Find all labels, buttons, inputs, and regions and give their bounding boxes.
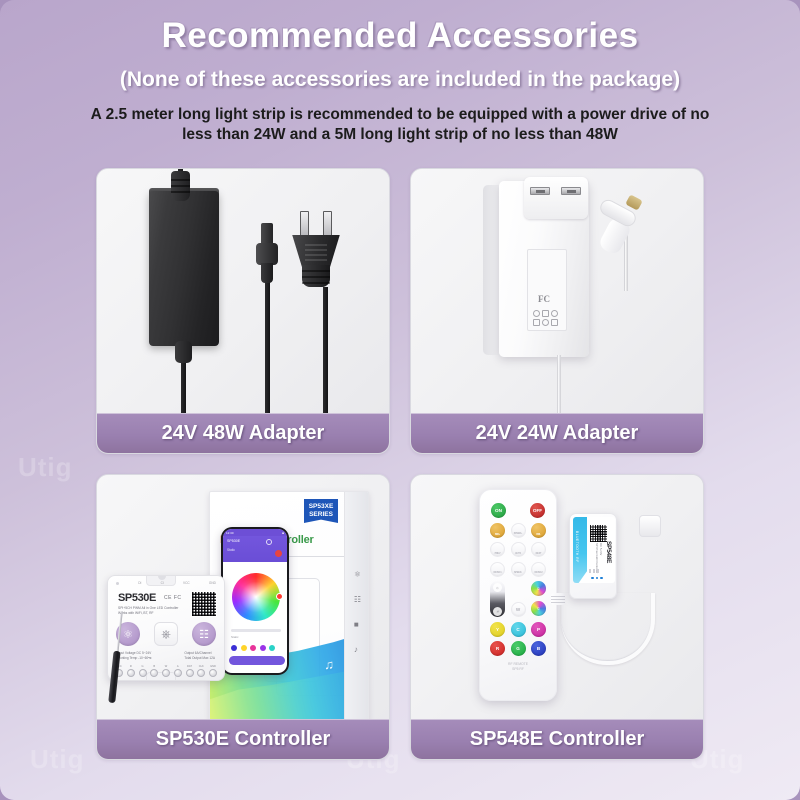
app-menu-icon xyxy=(266,539,272,545)
slider-bottom-icon: ☀ xyxy=(493,607,502,616)
usb-connector xyxy=(639,515,661,537)
sp530e-image: ♫ ⚛ ☷ ■ ♪ SP53XE SERIES IoT LED xyxy=(97,475,389,719)
device-model-name: SP530E xyxy=(118,592,156,604)
series-badge-line2: SERIES xyxy=(309,511,333,519)
sp548e-image: ON OFF BRI+ SPEED+ BRI- PREV AUTO NEXT xyxy=(411,475,703,719)
terminal: DAT xyxy=(186,665,194,677)
remote-rainbow-column: ☺ ☺ xyxy=(531,581,546,616)
device-specs-right: Output 6A/Channel Total Output Max 12A xyxy=(184,651,215,662)
remote-rgb-mode1-button[interactable]: ☺ xyxy=(531,581,546,596)
phone-mockup: 12:30 ■ SP530E Static Static xyxy=(221,527,289,675)
remote-row-dimmer: ☼ ☀ W ☺ ☺ xyxy=(490,581,546,617)
page-note: A 2.5 meter long light strip is recommen… xyxy=(0,105,800,146)
adapter-spec-text: AC/DC ADAPTER MODEL: SW-2402000 INPUT: 1… xyxy=(529,249,555,260)
spec-total-output: Total Output Max 12A xyxy=(184,656,215,661)
app-action-button xyxy=(229,656,285,665)
series-badge: SP53XE SERIES xyxy=(304,499,338,523)
remote-color-yellow-button[interactable]: Y xyxy=(490,622,505,637)
button-label: BRI+ xyxy=(495,534,500,536)
remote-brand-line2: SP5 RF xyxy=(490,667,546,672)
usb-cable xyxy=(561,593,655,665)
adapter-48w-image xyxy=(97,169,389,413)
remote-row-music: MUSIC1 SPEED- MUSIC2 xyxy=(490,562,546,577)
remote-brightness-up-button[interactable]: BRI+ xyxy=(490,523,505,538)
terminal: A xyxy=(174,665,182,677)
page-subtitle: (None of these accessories are included … xyxy=(0,68,800,92)
remote-on-button[interactable]: ON xyxy=(491,503,506,518)
device-specs-left: Input Voltage DC 5~24V Working Temp -10~… xyxy=(117,651,152,662)
remote-brightness-down-button[interactable]: BRI- xyxy=(531,523,546,538)
battery-icon: ■ xyxy=(282,531,284,535)
remote-color-green-button[interactable]: G xyxy=(511,641,526,656)
card-label-sp548e: SP548E Controller xyxy=(411,719,703,759)
adapter-output-cord xyxy=(557,355,561,413)
ac-prong-left xyxy=(530,187,550,195)
ac-plug-ribs xyxy=(289,235,343,267)
pin-label-di: DI xyxy=(138,581,141,585)
box-spine-icons: ⚛ ☷ ■ ♪ xyxy=(354,570,361,654)
remote-off-button[interactable]: OFF xyxy=(530,503,545,518)
terminal: W xyxy=(162,665,170,677)
app-header: SP530E Static xyxy=(223,536,287,562)
device-indicator-dots xyxy=(591,577,603,580)
ac-prong-left xyxy=(300,211,309,237)
ac-prong-right xyxy=(323,211,332,237)
band-text: BLUETOOTH RF xyxy=(575,531,579,563)
wifi-icon: ☷ xyxy=(192,622,216,646)
status-time: 12:30 xyxy=(226,531,234,535)
remote-row-colors-2: R G B xyxy=(490,641,546,656)
slider-top-icon: ☼ xyxy=(493,583,502,592)
remote-speed-up-button[interactable]: SPEED+ xyxy=(511,523,526,538)
power-icon: ⎈ xyxy=(154,622,178,646)
app-sub-label: Static xyxy=(227,548,235,552)
button-label: BRI- xyxy=(536,534,540,536)
device-pins xyxy=(589,569,599,573)
button-label: AUTO xyxy=(515,553,521,555)
app-device-name: SP530E xyxy=(227,539,240,543)
remote-music1-button[interactable]: MUSIC1 xyxy=(490,562,505,577)
device-desc-line2: Works with WiFi, BT, RF xyxy=(118,611,178,616)
remote-color-purple-button[interactable]: P xyxy=(531,622,546,637)
device-model-name: SP548E xyxy=(605,541,612,563)
card-label-adapter-48w: 24V 48W Adapter xyxy=(97,413,389,453)
pin-label-vcc: VCC xyxy=(183,581,190,585)
card-label-sp530e: SP530E Controller xyxy=(97,719,389,759)
button-label: MUSIC2 xyxy=(534,572,542,574)
terminal-label: B xyxy=(153,665,155,668)
dc-tail xyxy=(261,263,273,283)
bluetooth-icon: ⚛ xyxy=(354,570,361,579)
remote-prev-button[interactable]: PREV xyxy=(490,542,505,557)
qr-code-icon xyxy=(191,591,217,617)
app-power-button xyxy=(275,550,282,557)
accessory-card-adapter-48w[interactable]: 24V 48W Adapter xyxy=(96,168,390,454)
ac-neck-rings xyxy=(302,265,330,287)
music-note-icon: ♫ xyxy=(324,657,334,672)
button-label: SPEED+ xyxy=(514,533,523,535)
series-badge-line1: SP53XE xyxy=(309,503,334,511)
spec-working-temp: Working Temp -10~60℃ xyxy=(117,656,152,661)
color-wheel xyxy=(232,573,280,621)
dc-barrel-plug xyxy=(252,223,282,283)
dc-barrel-tip xyxy=(261,223,273,245)
remote-next-button[interactable]: NEXT xyxy=(531,542,546,557)
power-brick-body xyxy=(149,191,219,346)
dc-cord xyxy=(265,281,270,413)
spec-voltage: DC 5-24V xyxy=(599,543,603,573)
button-label: PREV xyxy=(495,553,501,555)
terminal: G xyxy=(139,665,147,677)
device-specs: Input Voltage DC 5~24V Working Temp -10~… xyxy=(117,651,215,662)
phone-status-bar: 12:30 ■ xyxy=(223,529,287,536)
brightness-slider[interactable]: ☼ ☀ xyxy=(490,581,505,617)
terminal: B xyxy=(150,665,158,677)
led-indicator xyxy=(116,582,119,585)
wheel-caption: Static xyxy=(231,635,239,639)
ac-wall-plug xyxy=(287,211,345,291)
pin-label-gnd: GND xyxy=(209,581,216,585)
accessories-page: Utig Utig Utig Utig Utig Utig Recommende… xyxy=(0,0,800,800)
rf-remote: ON OFF BRI+ SPEED+ BRI- PREV AUTO NEXT xyxy=(479,489,557,701)
terminal-label: W xyxy=(165,665,167,668)
watermark: Utig xyxy=(18,452,73,483)
device-top-pins: DI CI VCC GND xyxy=(116,581,216,585)
remote-auto-button[interactable]: AUTO xyxy=(511,542,526,557)
qr-code-icon xyxy=(590,525,607,542)
terminal-label: A xyxy=(177,665,179,668)
device-description: SPI+5CH PWM All in One LED Controller Wo… xyxy=(118,606,178,616)
remote-row-navigation: PREV AUTO NEXT xyxy=(490,542,546,557)
terminal: GND xyxy=(209,665,217,677)
ac-cord xyxy=(323,287,328,413)
card-label-adapter-24w: 24V 24W Adapter xyxy=(411,413,703,453)
sp548e-device: BLUETOOTH RF SP548E DC 5-24V SPI Pixel L… xyxy=(569,513,617,599)
dc-collar xyxy=(256,243,278,265)
remote-row-brightness: BRI+ SPEED+ BRI- xyxy=(490,523,546,538)
output-strain-relief xyxy=(175,341,192,363)
ac-prong-plate xyxy=(524,177,588,219)
remote-row-colors-1: Y C P xyxy=(490,622,546,637)
terminal-label: R xyxy=(130,665,132,668)
device-label: BLUETOOTH RF SP548E DC 5-24V SPI Pixel L… xyxy=(573,517,615,583)
brightness-slider xyxy=(231,629,281,632)
accessory-card-sp530e[interactable]: ♫ ⚛ ☷ ■ ♪ SP53XE SERIES IoT LED xyxy=(96,474,390,760)
watermark: Utig xyxy=(30,744,85,775)
sp530e-device: DI CI VCC GND SP530E CE FC SPI+5CH PWM A… xyxy=(107,575,225,681)
button-label: NEXT xyxy=(536,553,542,555)
remote-music2-button[interactable]: MUSIC2 xyxy=(531,562,546,577)
pin-label-ci: CI xyxy=(161,581,164,585)
strain-relief-rings xyxy=(171,171,190,201)
certification-marks xyxy=(533,310,565,326)
screw-terminal-block: VCC R G B W A DAT CLK GND xyxy=(115,665,217,677)
button-label: SPEED- xyxy=(514,572,522,574)
page-header: Recommended Accessories (None of these a… xyxy=(0,0,800,146)
remote-icon: ■ xyxy=(354,620,361,629)
remote-color-blue-button[interactable]: B xyxy=(531,641,546,656)
controller-output-connector xyxy=(551,593,565,605)
remote-color-cyan-button[interactable]: C xyxy=(511,622,526,637)
accessory-grid: 24V 48W Adapter AC/DC ADAPTER MODEL: SW-… xyxy=(96,168,704,760)
adapter-24w-image: AC/DC ADAPTER MODEL: SW-2402000 INPUT: 1… xyxy=(411,169,703,413)
terminal: R xyxy=(127,665,135,677)
button-label: MUSIC1 xyxy=(493,572,501,574)
fcc-mark-icon: FC xyxy=(538,294,550,304)
terminal: CLK xyxy=(197,665,205,677)
remote-speed-down-button[interactable]: SPEED- xyxy=(511,562,526,577)
remote-row-power: ON OFF xyxy=(490,503,546,518)
music-icon: ♪ xyxy=(354,645,361,654)
accessory-card-sp548e[interactable]: ON OFF BRI+ SPEED+ BRI- PREV AUTO NEXT xyxy=(410,474,704,760)
device-buttons: ⚛ ⎈ ☷ xyxy=(116,622,216,646)
page-title: Recommended Accessories xyxy=(0,16,800,56)
wifi-icon: ☷ xyxy=(354,595,361,604)
terminal-label: GND xyxy=(210,665,216,668)
terminal-label: DAT xyxy=(187,665,192,668)
remote-branding: RF REMOTE SP5 RF xyxy=(490,662,546,672)
color-swatches xyxy=(231,645,275,651)
terminal-label: G xyxy=(141,665,143,668)
device-certs: CE FC xyxy=(164,595,182,601)
color-wheel-handle xyxy=(276,593,283,600)
label-color-band: BLUETOOTH RF xyxy=(573,517,587,583)
accessory-card-adapter-24w[interactable]: AC/DC ADAPTER MODEL: SW-2402000 INPUT: 1… xyxy=(410,168,704,454)
adapter-spec-label: AC/DC ADAPTER MODEL: SW-2402000 INPUT: 1… xyxy=(527,249,567,331)
remote-color-red-button[interactable]: R xyxy=(490,641,505,656)
phone-screen: 12:30 ■ SP530E Static Static xyxy=(223,529,287,673)
remote-white-button[interactable]: W xyxy=(511,602,526,617)
ac-prong-right xyxy=(561,187,581,195)
spec-line-5: MADE IN CHINA xyxy=(549,249,554,306)
terminal-label: CLK xyxy=(199,665,204,668)
remote-rgb-mode2-button[interactable]: ☺ xyxy=(531,601,546,616)
